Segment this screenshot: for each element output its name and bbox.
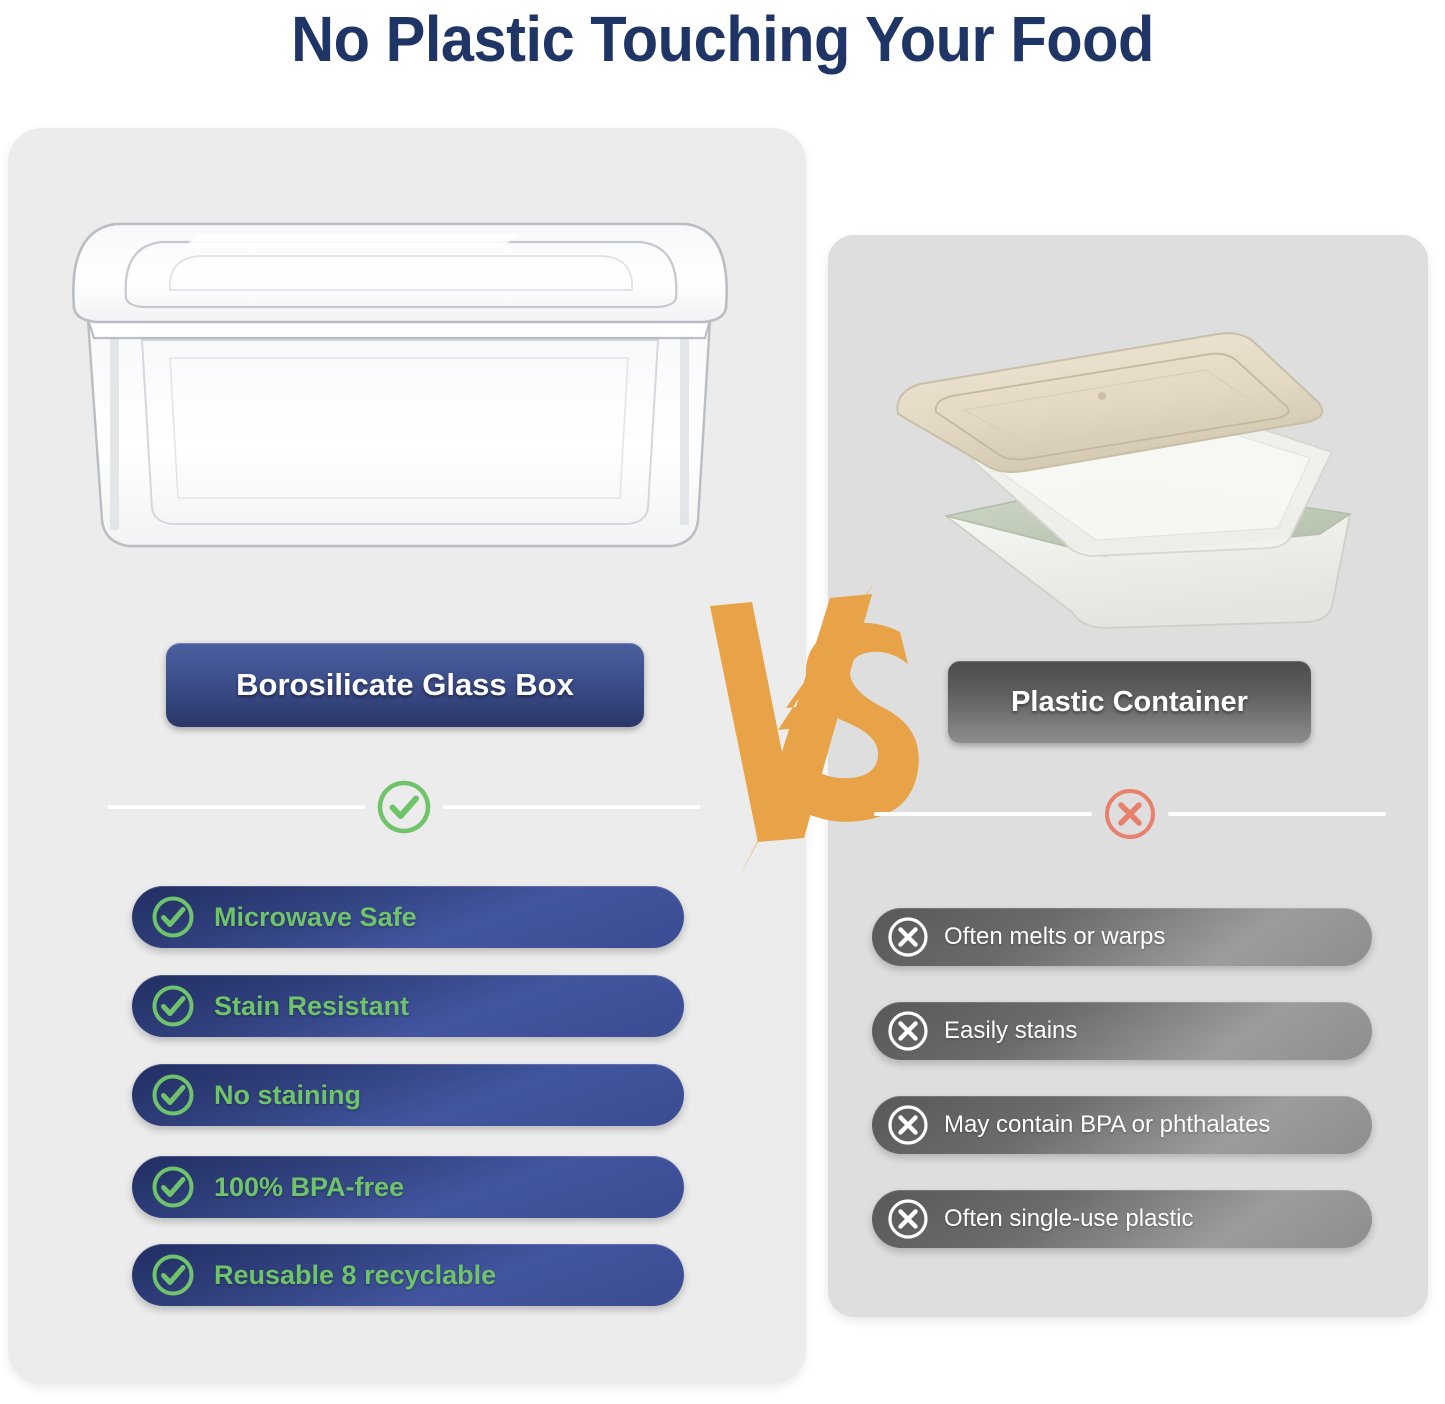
x-circle-icon <box>886 1197 930 1241</box>
feature-pill-label: Stain Resistant <box>214 991 409 1022</box>
feature-pill-label: Often single-use plastic <box>944 1205 1193 1233</box>
glass-food-container-image <box>50 190 750 590</box>
check-circle-icon <box>150 1072 196 1118</box>
check-circle-icon <box>150 983 196 1029</box>
divider-line-right <box>443 805 700 809</box>
feature-pill-label: Often melts or warps <box>944 923 1165 951</box>
check-circle-icon <box>150 1164 196 1210</box>
divider-line-left <box>874 812 1092 816</box>
page-title: No Plastic Touching Your Food <box>51 2 1395 76</box>
feature-pill-label: May contain BPA or phthalates <box>944 1111 1270 1139</box>
feature-pill-con[interactable]: Easily stains <box>872 1002 1372 1060</box>
feature-pill-label: Easily stains <box>944 1017 1077 1045</box>
plastic-food-container-image <box>880 320 1380 640</box>
feature-pill-con[interactable]: Often melts or warps <box>872 908 1372 966</box>
x-circle-icon <box>1102 786 1158 842</box>
feature-pill-label: 100% BPA-free <box>214 1172 404 1203</box>
feature-pill-pro[interactable]: 100% BPA-free <box>132 1156 684 1218</box>
plastic-badge-label: Plastic Container <box>1011 686 1248 719</box>
feature-pill-pro[interactable]: Microwave Safe <box>132 886 684 948</box>
check-circle-icon <box>375 778 433 836</box>
feature-pill-pro[interactable]: Reusable 8 recyclable <box>132 1244 684 1306</box>
glass-badge-label: Borosilicate Glass Box <box>236 667 574 703</box>
divider-line-left <box>108 805 365 809</box>
x-circle-icon <box>886 915 930 959</box>
feature-pill-con[interactable]: Often single-use plastic <box>872 1190 1372 1248</box>
glass-divider <box>108 778 700 836</box>
glass-badge[interactable]: Borosilicate Glass Box <box>166 643 644 727</box>
feature-pill-label: Microwave Safe <box>214 902 417 933</box>
feature-pill-pro[interactable]: No staining <box>132 1064 684 1126</box>
x-circle-icon <box>886 1103 930 1147</box>
plastic-badge[interactable]: Plastic Container <box>948 661 1311 743</box>
check-circle-icon <box>150 1252 196 1298</box>
divider-line-right <box>1168 812 1386 816</box>
plastic-divider <box>874 786 1386 842</box>
feature-pill-pro[interactable]: Stain Resistant <box>132 975 684 1037</box>
feature-pill-label: Reusable 8 recyclable <box>214 1260 496 1291</box>
check-circle-icon <box>150 894 196 940</box>
x-circle-icon <box>886 1009 930 1053</box>
feature-pill-con[interactable]: May contain BPA or phthalates <box>872 1096 1372 1154</box>
feature-pill-label: No staining <box>214 1080 361 1111</box>
